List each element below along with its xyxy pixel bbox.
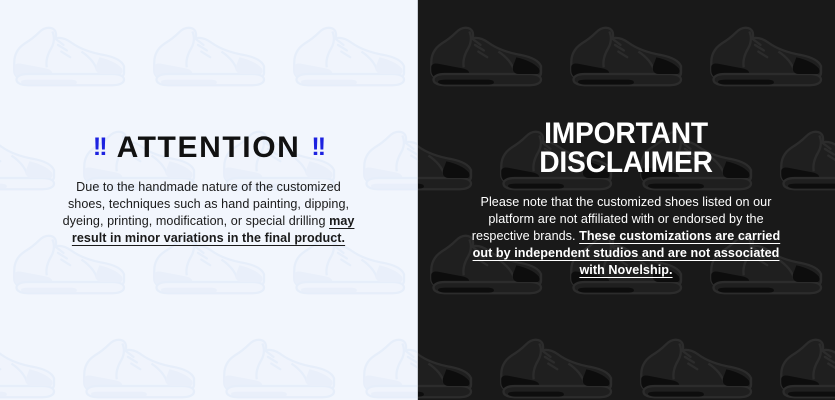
attention-body-normal: Due to the handmade nature of the custom… (63, 180, 350, 228)
attention-body-text: Due to the handmade nature of the custom… (59, 179, 359, 247)
exclamation-right-icon: !! (311, 135, 324, 160)
disclaimer-heading-line-2: DISCLAIMER (448, 148, 803, 177)
disclaimer-content: IMPORTANT DISCLAIMER Please note that th… (417, 0, 835, 279)
disclaimer-heading: IMPORTANT DISCLAIMER (448, 119, 803, 177)
disclaimer-body-text: Please note that the customized shoes li… (467, 194, 785, 279)
disclaimer-heading-line-1: IMPORTANT (448, 119, 803, 148)
customization-disclaimer-banner: !! ATTENTION !! Due to the handmade natu… (0, 0, 835, 400)
exclamation-left-icon: !! (93, 135, 106, 160)
attention-panel: !! ATTENTION !! Due to the handmade natu… (0, 0, 417, 400)
attention-heading: !! ATTENTION !! (20, 133, 397, 163)
attention-content: !! ATTENTION !! Due to the handmade natu… (0, 0, 417, 247)
disclaimer-panel: IMPORTANT DISCLAIMER Please note that th… (417, 0, 835, 400)
attention-title-text: ATTENTION (117, 133, 301, 163)
panel-divider (417, 0, 418, 400)
